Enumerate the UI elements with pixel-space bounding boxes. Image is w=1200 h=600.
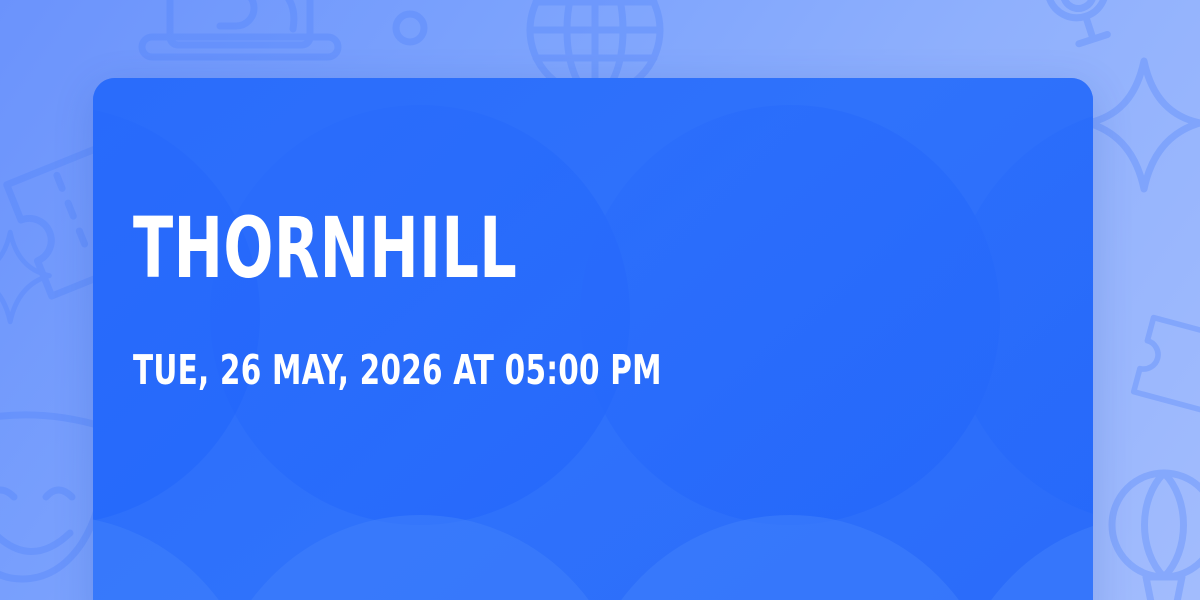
- card-content: THORNHILL TUE, 26 MAY, 2026 AT 05:00 PM: [133, 78, 1053, 600]
- stage-laptop-icon: [142, 0, 338, 57]
- event-title: THORNHILL: [133, 206, 517, 290]
- event-banner: THORNHILL TUE, 26 MAY, 2026 AT 05:00 PM: [0, 0, 1200, 600]
- ticket-icon: [1134, 318, 1200, 417]
- sparkle-icon: [0, 232, 49, 322]
- microphone-icon: [1036, 0, 1121, 48]
- event-datetime: TUE, 26 MAY, 2026 AT 05:00 PM: [133, 350, 662, 391]
- sparkle-icon: [1088, 61, 1200, 189]
- hot-air-balloon-icon: [1112, 473, 1200, 600]
- confetti-icon: [396, 14, 424, 42]
- event-card[interactable]: THORNHILL TUE, 26 MAY, 2026 AT 05:00 PM: [93, 78, 1093, 600]
